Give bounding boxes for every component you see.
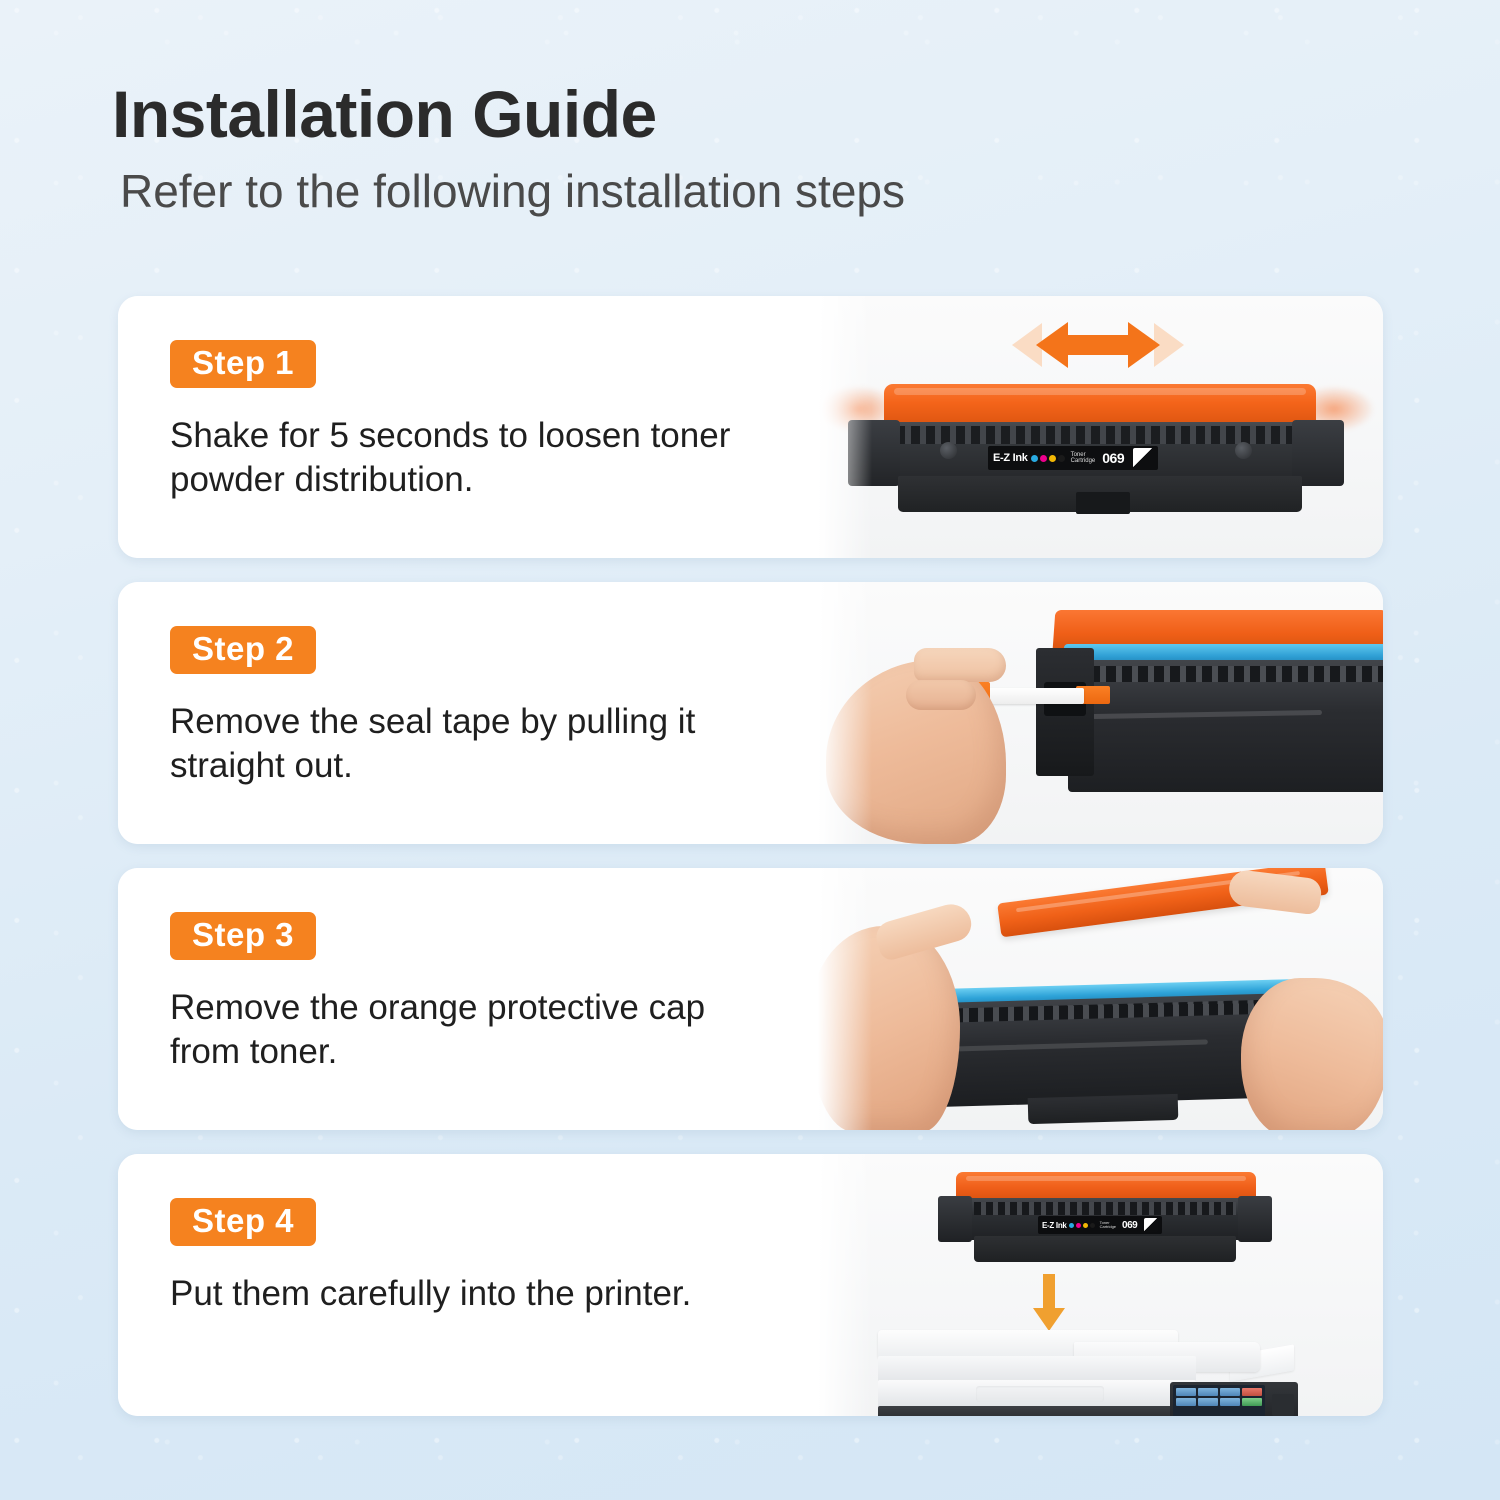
label-line-2: Cartridge [1100,1224,1116,1229]
printer-output-tray [878,1356,1196,1382]
right-hand-illustration [1241,978,1383,1130]
cartridge-end-left [848,420,900,486]
step-2-description: Remove the seal tape by pulling it strai… [170,700,780,788]
step-4-badge: Step 4 [170,1198,316,1246]
cartridge-gearbox [1036,648,1094,776]
step-3-figure [818,868,1383,1130]
label-corner-tag-icon [1133,448,1153,468]
step-4-text-panel: Step 4 Put them carefully into the print… [118,1154,818,1416]
app-icon-print[interactable] [1176,1398,1196,1406]
printer-keypad-button[interactable] [1272,1394,1294,1416]
toner-cartridge-illustration: E-Z Ink Toner Cartridge 069 [930,1172,1280,1268]
cmyk-dots-icon [1069,1223,1095,1228]
step-1-badge: Step 1 [170,340,316,388]
cartridge-knob-right [1235,442,1252,459]
step-4-description: Put them carefully into the printer. [170,1272,780,1316]
model-number: 069 [1122,1220,1137,1231]
step-card-1: Step 1 Shake for 5 seconds to loosen ton… [118,296,1383,558]
step-1-text-panel: Step 1 Shake for 5 seconds to loosen ton… [118,296,818,558]
step-4-figure: E-Z Ink Toner Cartridge 069 [818,1154,1383,1416]
cartridge-end-right [1238,1196,1272,1242]
step-2-text-panel: Step 2 Remove the seal tape by pulling i… [118,582,818,844]
step-3-description: Remove the orange protective cap from to… [170,986,780,1074]
page-subtitle: Refer to the following installation step… [120,167,1312,215]
app-icon-fax[interactable] [1198,1388,1218,1396]
printer-paper-cassette [878,1406,1196,1416]
shake-double-arrow-icon [978,318,1218,372]
cartridge-vents [974,1202,1236,1215]
app-icon-shortcuts[interactable] [1198,1398,1218,1406]
label-line-2: Cartridge [1071,458,1096,464]
step-card-3: Step 3 Remove the orange protective cap … [118,868,1383,1130]
app-icon-scan[interactable] [1220,1388,1240,1396]
label-line-1: Toner [1071,452,1086,458]
cartridge-product-label: E-Z Ink Toner Cartridge 069 [988,446,1158,470]
printer-touchscreen[interactable] [1173,1385,1265,1416]
cartridge-body [1068,660,1383,792]
model-number: 069 [1102,450,1124,466]
label-subtitle: Toner Cartridge [1071,452,1096,465]
label-subtitle: Toner Cartridge [1100,1221,1116,1229]
insert-down-arrow-icon [1032,1274,1066,1332]
app-icon-copy[interactable] [1176,1388,1196,1396]
step-card-2: Step 2 Remove the seal tape by pulling i… [118,582,1383,844]
cartridge-base [898,476,1302,512]
step-1-figure: E-Z Ink Toner Cartridge 069 [818,296,1383,558]
orange-protective-cap [884,384,1316,426]
touchscreen-app-icons[interactable] [1176,1388,1262,1406]
app-icon-setup[interactable] [1220,1398,1240,1406]
brand-name: E-Z Ink [993,452,1028,464]
cartridge-knob-left [940,442,957,459]
cartridge-base [1028,1094,1179,1124]
step-2-badge: Step 2 [170,626,316,674]
toner-cartridge-illustration: E-Z Ink Toner Cartridge 069 [836,384,1356,514]
app-icon-apps[interactable] [1242,1398,1262,1406]
steps-list: Step 1 Shake for 5 seconds to loosen ton… [118,296,1383,1440]
cartridge-base [974,1236,1236,1262]
brand-name: E-Z Ink [1042,1221,1067,1230]
step-2-figure: PULL [818,582,1383,844]
label-corner-tag-icon [1144,1218,1158,1232]
page-title: Installation Guide [112,80,1312,149]
cartridge-end-left [938,1196,972,1242]
step-3-badge: Step 3 [170,912,316,960]
step-card-4: Step 4 Put them carefully into the print… [118,1154,1383,1416]
page-header: Installation Guide Refer to the followin… [112,80,1312,215]
step-1-description: Shake for 5 seconds to loosen toner powd… [170,414,780,502]
cmyk-dots-icon [1031,455,1065,462]
step-3-text-panel: Step 3 Remove the orange protective cap … [118,868,818,1130]
app-icon-supplies[interactable] [1242,1388,1262,1396]
printer-control-panel[interactable] [1170,1382,1298,1416]
cartridge-vents [896,426,1296,444]
printer-front-cover [878,1380,1196,1408]
installation-guide-page: Installation Guide Refer to the followin… [0,0,1500,1500]
index-finger [914,648,1006,682]
seal-tape-illustration: PULL [818,582,1383,844]
printer-illustration [878,1330,1298,1416]
cartridge-product-label: E-Z Ink Toner Cartridge 069 [1038,1216,1162,1234]
thumb [906,680,976,710]
